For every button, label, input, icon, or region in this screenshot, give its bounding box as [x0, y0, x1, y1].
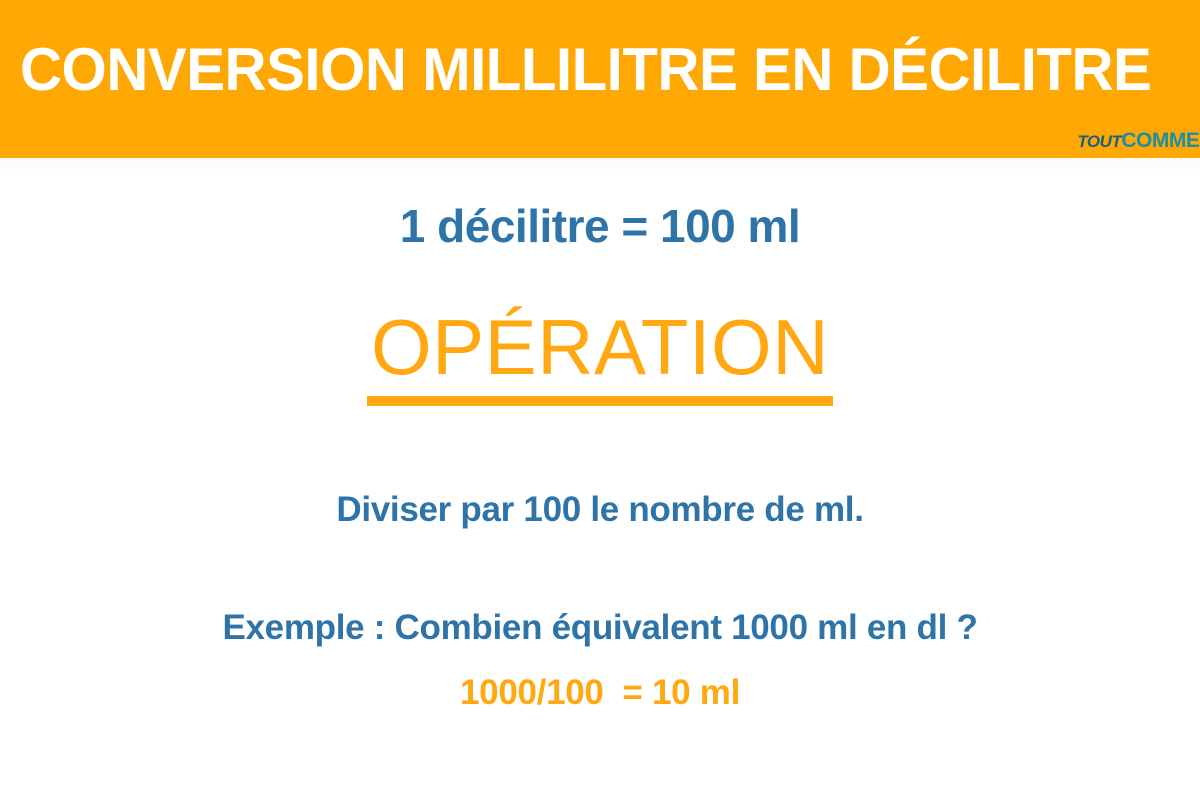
banner-fade-divider: [0, 158, 1200, 172]
slide-canvas: CONVERSION MILLILITRE EN DÉCILITRE TOUTC…: [0, 0, 1200, 800]
instruction-text: Diviser par 100 le nombre de ml.: [0, 487, 1200, 533]
example-result-text: 1000/100 = 10 ml: [0, 670, 1200, 716]
example-question-text: Exemple : Combien équivalent 1000 ml en …: [0, 605, 1200, 651]
operation-heading: OPÉRATION: [367, 304, 833, 406]
operation-heading-wrap: OPÉRATION: [0, 304, 1200, 406]
brand-logo: TOUTCOMMEN: [1077, 130, 1200, 153]
header-banner: CONVERSION MILLILITRE EN DÉCILITRE TOUTC…: [0, 0, 1200, 158]
page-title: CONVERSION MILLILITRE EN DÉCILITRE: [20, 38, 1151, 102]
brand-logo-comment: COMMEN: [1121, 129, 1200, 152]
brand-logo-tout: TOUT: [1077, 132, 1121, 151]
equivalence-statement: 1 décilitre = 100 ml: [0, 196, 1200, 256]
